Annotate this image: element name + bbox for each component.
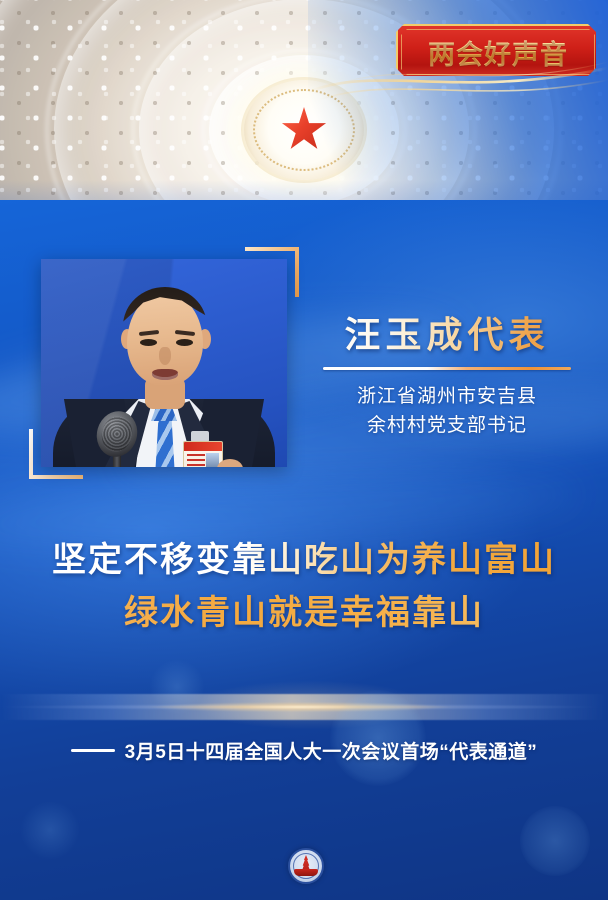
quote-line-1: 坚定不移变靠山吃山为养山富山 [0, 534, 608, 587]
speaker-role: 浙江省湖州市安吉县 余村村党支部书记 [318, 383, 576, 440]
eye-left [140, 339, 157, 346]
delegate-credential-badge [183, 441, 223, 467]
quote-line-2: 绿水青山就是幸福靠山 [0, 587, 608, 640]
name-divider [323, 367, 571, 370]
eye-right [176, 339, 193, 346]
xinhua-emblem-icon [288, 848, 324, 884]
caption-block: 3月5日十四届全国人大一次会议首场“代表通道” [0, 737, 608, 764]
program-banner-plaque: 两会好声音 [396, 24, 600, 80]
nose [159, 347, 171, 365]
badge-text-lines [187, 454, 205, 467]
speaker-role-line-2: 余村村党支部书记 [318, 412, 576, 441]
caption-dash-rule [71, 749, 115, 752]
speaker-photo-frame [41, 259, 287, 467]
quote-block: 坚定不移变靠山吃山为养山富山 绿水青山就是幸福靠山 [0, 534, 608, 639]
speaker-photo [41, 259, 287, 467]
poster: 两会好声音 [0, 0, 608, 900]
speaker-name-block: 汪玉成代表 浙江省湖州市安吉县 余村村党支部书记 [318, 314, 576, 440]
caption-text: 3月5日十四届全国人大一次会议首场“代表通道” [125, 737, 538, 764]
speaker-role-line-1: 浙江省湖州市安吉县 [318, 383, 576, 412]
speaker-name: 汪玉成代表 [318, 314, 576, 355]
badge-header-bar [184, 442, 222, 451]
mouth [152, 369, 178, 380]
emblem-inner-ring [293, 853, 319, 879]
banner-title: 两会好声音 [428, 33, 568, 72]
